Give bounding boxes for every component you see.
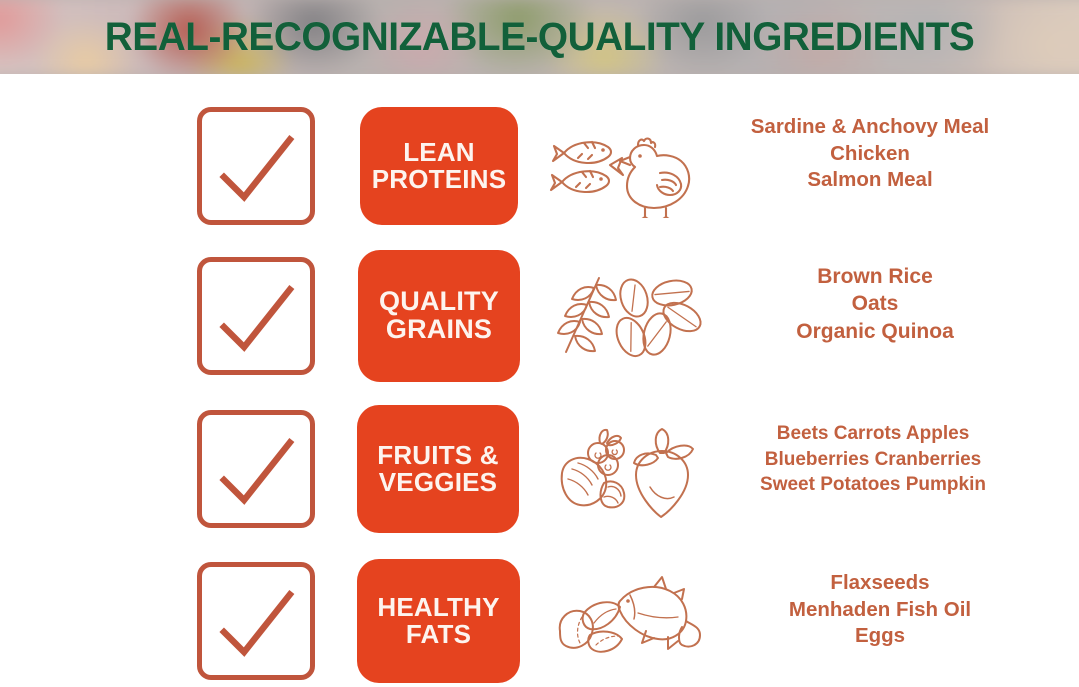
row-fruits-veggies: FRUITS & VEGGIES bbox=[0, 403, 1079, 535]
checkmark-icon bbox=[202, 262, 310, 370]
flaxseeds-and-fish-icon bbox=[550, 573, 702, 673]
row-lean-proteins: LEAN PROTEINS bbox=[0, 100, 1079, 232]
ingredients-fruits-veggies: Beets Carrots Apples Blueberries Cranber… bbox=[718, 421, 1028, 498]
badge-quality-grains[interactable]: QUALITY GRAINS bbox=[358, 250, 520, 382]
checkbox-lean-proteins[interactable] bbox=[197, 107, 315, 225]
ingredient-line: Eggs bbox=[735, 623, 1025, 650]
ingredient-line: Organic Quinoa bbox=[730, 318, 1020, 345]
ingredients-healthy-fats: Flaxseeds Menhaden Fish Oil Eggs bbox=[735, 570, 1025, 650]
ingredient-line: Sweet Potatoes Pumpkin bbox=[718, 472, 1028, 498]
badge-line-2: FATS bbox=[377, 621, 499, 648]
ingredient-line: Chicken bbox=[700, 141, 1040, 168]
checkbox-fruits-veggies[interactable] bbox=[197, 410, 315, 528]
checkbox-healthy-fats[interactable] bbox=[197, 562, 315, 680]
checkmark-icon bbox=[202, 415, 310, 523]
badge-line-2: VEGGIES bbox=[377, 469, 498, 496]
grain-stalk-and-kernels-icon bbox=[552, 272, 704, 364]
page-title: REAL-RECOGNIZABLE-QUALITY INGREDIENTS bbox=[16, 0, 1063, 74]
badge-line-2: GRAINS bbox=[379, 316, 499, 344]
ingredient-line: Oats bbox=[730, 290, 1020, 317]
ingredient-line: Blueberries Cranberries bbox=[718, 447, 1028, 473]
badge-healthy-fats[interactable]: HEALTHY FATS bbox=[357, 559, 520, 683]
checkmark-icon bbox=[202, 112, 310, 220]
sweet-potato-blueberries-beet-icon bbox=[550, 417, 702, 521]
badge-line-1: HEALTHY bbox=[377, 594, 499, 621]
badge-line-2: PROTEINS bbox=[372, 166, 507, 193]
ingredient-line: Beets Carrots Apples bbox=[718, 421, 1028, 447]
ingredients-lean-proteins: Sardine & Anchovy Meal Chicken Salmon Me… bbox=[700, 114, 1040, 194]
checkbox-quality-grains[interactable] bbox=[197, 257, 315, 375]
ingredient-line: Flaxseeds bbox=[735, 570, 1025, 597]
ingredient-line: Sardine & Anchovy Meal bbox=[700, 114, 1040, 141]
ingredient-line: Brown Rice bbox=[730, 263, 1020, 290]
row-healthy-fats: HEALTHY FATS bbox=[0, 555, 1079, 687]
ingredient-line: Salmon Meal bbox=[700, 167, 1040, 194]
fish-and-chicken-icon bbox=[548, 120, 706, 218]
ingredient-rows: LEAN PROTEINS bbox=[0, 74, 1079, 682]
header-banner: REAL-RECOGNIZABLE-QUALITY INGREDIENTS bbox=[0, 0, 1079, 74]
ingredient-line: Menhaden Fish Oil bbox=[735, 597, 1025, 624]
badge-fruits-veggies[interactable]: FRUITS & VEGGIES bbox=[357, 405, 519, 533]
badge-line-1: QUALITY bbox=[379, 288, 499, 316]
checkmark-icon bbox=[202, 567, 310, 675]
badge-line-1: FRUITS & bbox=[377, 442, 498, 469]
badge-lean-proteins[interactable]: LEAN PROTEINS bbox=[360, 107, 518, 225]
ingredients-quality-grains: Brown Rice Oats Organic Quinoa bbox=[730, 263, 1020, 345]
row-quality-grains: QUALITY GRAINS bbox=[0, 250, 1079, 382]
badge-line-1: LEAN bbox=[372, 139, 507, 166]
